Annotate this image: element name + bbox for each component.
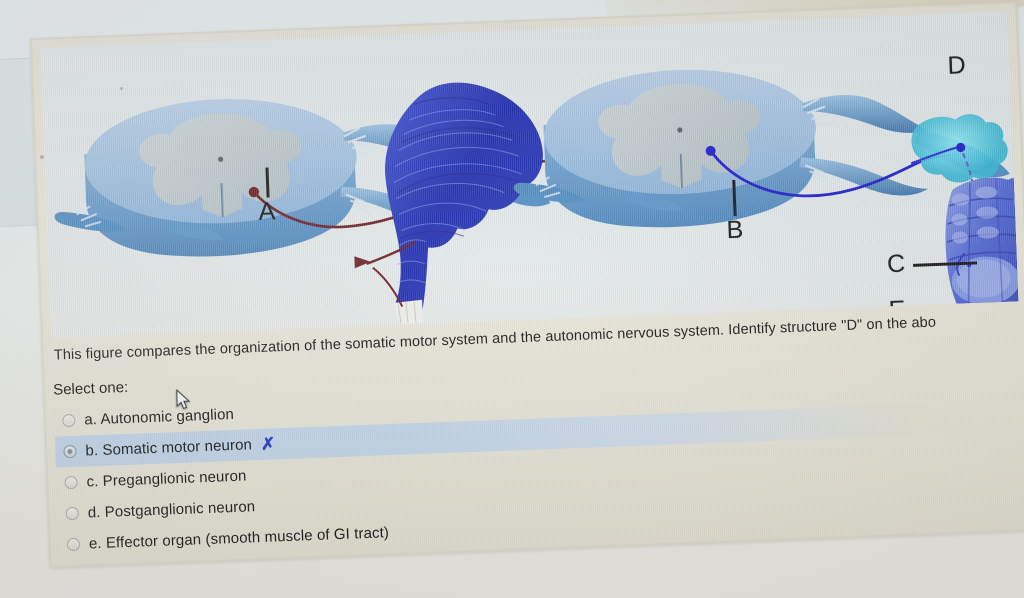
answer-label-c: c. Preganglionic neuron xyxy=(86,468,246,491)
radio-option-c[interactable] xyxy=(64,476,77,489)
radio-option-a[interactable] xyxy=(62,414,75,427)
muscle-tendon xyxy=(394,300,423,325)
radio-option-e[interactable] xyxy=(67,538,80,551)
gi-tract xyxy=(943,177,1018,306)
figure-label-B: B xyxy=(726,216,744,246)
autonomic-ganglion xyxy=(909,113,1008,184)
figure-image: A B C D E xyxy=(40,12,1018,338)
label-B-leader xyxy=(734,180,735,216)
sidebar-question-state: t xyxy=(0,97,34,114)
screen-photo: n 14 t nts out ⚑ xyxy=(0,0,1024,598)
label-E-leader xyxy=(915,309,977,311)
answer-label-d: d. Postganglionic neuron xyxy=(87,498,255,521)
incorrect-mark-icon: ✗ xyxy=(261,435,276,453)
select-one-label: Select one: xyxy=(53,379,129,399)
sidebar-question-number: n 14 xyxy=(0,71,33,92)
anatomy-diagram-svg xyxy=(40,12,1018,338)
figure-label-D: D xyxy=(947,51,966,81)
radio-option-d[interactable] xyxy=(66,507,79,520)
answer-options-list: a. Autonomic ganglion b. Somatic motor n… xyxy=(54,369,1024,560)
label-A-leader xyxy=(267,168,268,198)
sidebar-question-points: nts out xyxy=(0,133,36,151)
answer-label-a: a. Autonomic ganglion xyxy=(84,406,234,429)
answer-label-e: e. Effector organ (smooth muscle of GI t… xyxy=(89,524,390,552)
radio-option-b[interactable] xyxy=(63,445,76,458)
flag-icon[interactable]: ⚑ xyxy=(0,182,37,196)
question-card: A B C D E This figure compares the organ… xyxy=(30,1,1024,568)
answer-label-b: b. Somatic motor neuron xyxy=(85,436,252,459)
screen-plane: n 14 t nts out ⚑ xyxy=(0,0,1024,598)
figure-label-A: A xyxy=(258,197,276,227)
figure-label-C: C xyxy=(887,250,906,280)
